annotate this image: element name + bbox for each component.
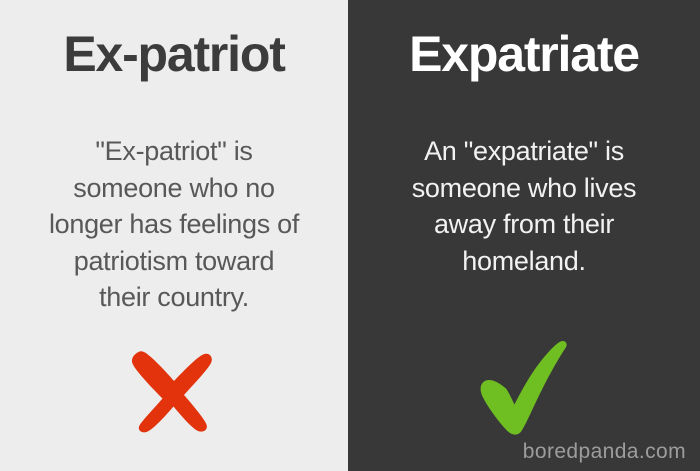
cross-icon xyxy=(128,348,220,434)
left-definition-line-1: "Ex-patriot" is xyxy=(8,133,340,170)
check-icon xyxy=(479,340,569,436)
left-definition-line-5: their country. xyxy=(8,279,340,316)
right-panel-expatriate: Expatriate An "expatriate" is someone wh… xyxy=(348,0,700,471)
left-panel-definition: "Ex-patriot" is someone who no longer ha… xyxy=(8,133,340,316)
left-panel-ex-patriot: Ex-patriot "Ex-patriot" is someone who n… xyxy=(0,0,348,471)
cross-mark-container xyxy=(0,348,348,434)
right-definition-line-1: An "expatriate" is xyxy=(356,133,692,170)
right-panel-title: Expatriate xyxy=(348,26,700,82)
left-definition-line-4: patriotism toward xyxy=(8,243,340,280)
comparison-infographic: Ex-patriot "Ex-patriot" is someone who n… xyxy=(0,0,700,471)
right-panel-definition: An "expatriate" is someone who lives awa… xyxy=(356,133,692,279)
check-mark-container xyxy=(348,340,700,436)
left-panel-title: Ex-patriot xyxy=(0,26,348,82)
right-definition-line-4: homeland. xyxy=(356,243,692,280)
left-definition-line-2: someone who no xyxy=(8,170,340,207)
boredpanda-watermark: boredpanda.com xyxy=(523,439,686,465)
left-definition-line-3: longer has feelings of xyxy=(8,206,340,243)
right-definition-line-2: someone who lives xyxy=(356,170,692,207)
right-definition-line-3: away from their xyxy=(356,206,692,243)
